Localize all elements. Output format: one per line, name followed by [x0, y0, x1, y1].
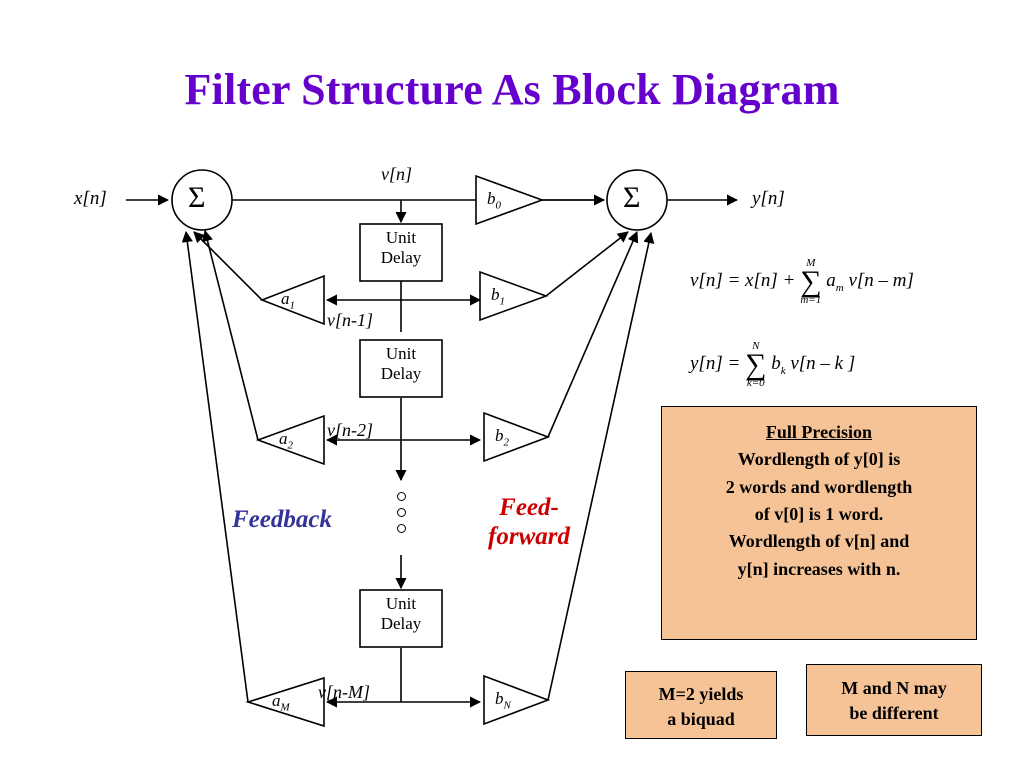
eq2-sum-bottom: k=0	[745, 378, 766, 389]
gain-label-bN: bN	[495, 689, 511, 711]
vertical-ellipsis	[397, 492, 406, 540]
note-mn-line2: be different	[849, 703, 938, 723]
note-full-precision: Full Precision Wordlength of y[0] is 2 w…	[661, 406, 977, 640]
note-biquad: M=2 yields a biquad	[625, 671, 777, 739]
gain-sub: 2	[288, 439, 294, 451]
gain-base: b	[495, 689, 504, 708]
unit-delay-label-3: Unit Delay	[360, 594, 442, 633]
eq2-summation: N ∑ k=0	[745, 341, 766, 389]
gain-label-a1: a1	[281, 289, 295, 311]
gain-triangle-bN	[484, 676, 548, 724]
eq2-lhs: y[n] =	[690, 353, 740, 374]
gain-base: b	[487, 189, 496, 208]
note-full-precision-line2: 2 words and wordlength	[726, 477, 913, 497]
gain-triangle-b0	[476, 176, 542, 224]
input-label: x[n]	[74, 188, 107, 210]
gain-label-a2: a2	[279, 429, 293, 451]
eq2-rhs-tail: v[n – k ]	[790, 353, 855, 374]
slide: Filter Structure As Block Diagram	[0, 0, 1024, 768]
gain-base: a	[281, 289, 290, 308]
vn-label: v[n]	[381, 164, 412, 185]
eq1-rhs-tail: v[n – m]	[848, 270, 913, 291]
gain-base: a	[279, 429, 288, 448]
unit-delay-line2: Delay	[381, 248, 422, 267]
block-diagram-canvas	[0, 0, 1024, 768]
gain-label-b0: b0	[487, 189, 501, 211]
vnM-label: v[n-M]	[318, 682, 370, 703]
unit-delay-label-1: Unit Delay	[360, 228, 442, 267]
gain-sub: 0	[496, 199, 502, 211]
unit-delay-line1: Unit	[386, 594, 416, 613]
gain-label-aM: aM	[272, 691, 290, 713]
eq1-lhs: v[n] = x[n] +	[690, 270, 795, 291]
adder-left-symbol: Σ	[188, 181, 205, 215]
note-full-precision-heading: Full Precision	[766, 422, 872, 442]
gain-sub: 2	[504, 436, 510, 448]
feedforward-label: Feed- forward	[469, 494, 589, 552]
adder-right-symbol: Σ	[623, 181, 640, 215]
feedforward-line1: Feed-	[499, 494, 559, 521]
note-mn-line1: M and N may	[841, 678, 947, 698]
gain-triangle-b1	[480, 272, 546, 320]
unit-delay-line1: Unit	[386, 228, 416, 247]
gain-sub: 1	[500, 295, 506, 307]
gain-base: b	[491, 285, 500, 304]
unit-delay-line1: Unit	[386, 344, 416, 363]
note-biquad-line2: a biquad	[667, 709, 735, 729]
gain-triangle-b2	[484, 413, 548, 461]
eq1-rhs-base: a	[826, 270, 836, 291]
unit-delay-line2: Delay	[381, 614, 422, 633]
note-full-precision-line1: Wordlength of y[0] is	[738, 449, 901, 469]
gain-label-b2: b2	[495, 426, 509, 448]
eq1-summation: M ∑ m=1	[800, 258, 821, 306]
eq1-rhs-sub: m	[836, 282, 844, 294]
note-m-n-different: M and N may be different	[806, 664, 982, 736]
eq2-rhs-base: b	[771, 353, 781, 374]
note-biquad-line1: M=2 yields	[659, 684, 744, 704]
unit-delay-label-2: Unit Delay	[360, 344, 442, 383]
eq2-rhs-sub: k	[781, 365, 786, 377]
feedforward-line2: forward	[488, 523, 570, 550]
gain-base: b	[495, 426, 504, 445]
gain-sub: N	[504, 699, 511, 711]
note-full-precision-line5: y[n] increases with n.	[738, 559, 901, 579]
vn2-label: v[n-2]	[327, 420, 373, 441]
unit-delay-line2: Delay	[381, 364, 422, 383]
feedback-label: Feedback	[232, 506, 332, 534]
gain-sub: M	[281, 701, 290, 713]
equation-yn: y[n] = N ∑ k=0 bk v[n – k ]	[690, 341, 855, 389]
gain-sub: 1	[290, 299, 296, 311]
eq1-sum-bottom: m=1	[800, 295, 821, 306]
gain-base: a	[272, 691, 281, 710]
vn1-label: v[n-1]	[327, 310, 373, 331]
output-label: y[n]	[752, 188, 785, 210]
gain-label-b1: b1	[491, 285, 505, 307]
note-full-precision-line4: Wordlength of v[n] and	[729, 531, 910, 551]
equation-vn: v[n] = x[n] + M ∑ m=1 am v[n – m]	[690, 258, 914, 306]
note-full-precision-line3: of v[0] is 1 word.	[755, 504, 884, 524]
